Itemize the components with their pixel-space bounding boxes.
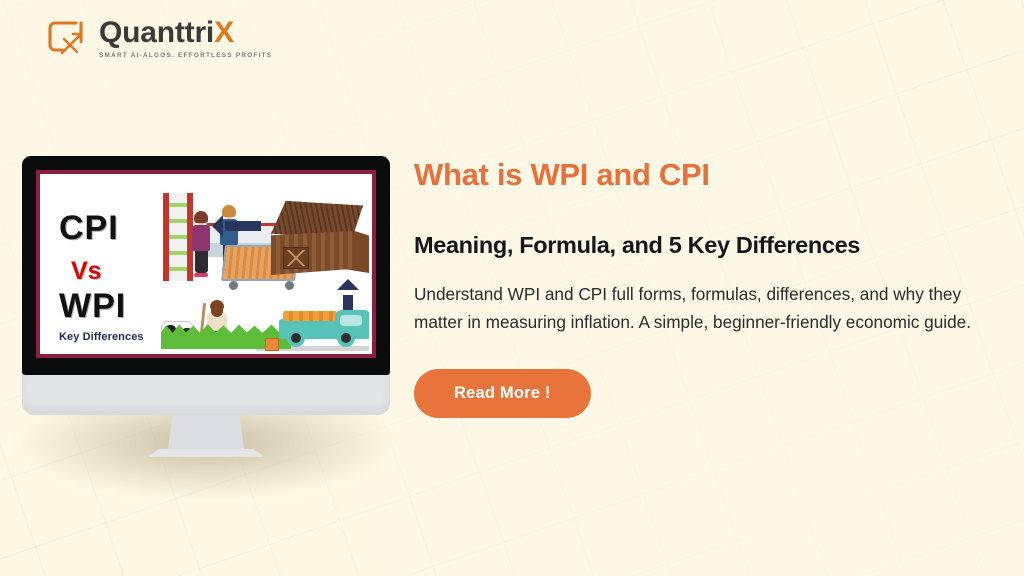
- thumbnail-frame: CPI Vs WPI Key Differences: [36, 170, 376, 358]
- arrow-left-icon: [225, 221, 261, 231]
- thumbnail-caption: Key Differences: [59, 331, 144, 343]
- thumbnail-label-cpi: CPI: [59, 209, 119, 248]
- brand-tagline: SMART AI-ALGOS. EFFORTLESS PROFITS: [99, 53, 272, 59]
- monitor-chin: [22, 375, 390, 415]
- read-more-button[interactable]: Read More !: [414, 369, 591, 418]
- brand-name-dark: Quanttri: [99, 16, 214, 49]
- monitor-bezel: CPI Vs WPI Key Differences: [22, 156, 390, 375]
- monitor-mockup: CPI Vs WPI Key Differences: [22, 156, 390, 457]
- page-stage: QuanttriX SMART AI-ALGOS. EFFORTLESS PRO…: [0, 0, 1024, 576]
- brand-wordmark: QuanttriX: [99, 18, 272, 48]
- barn-door: [283, 247, 309, 269]
- store-shelf: [163, 193, 193, 281]
- page-title: What is WPI and CPI: [414, 158, 989, 192]
- warehouse-barn-illustration: [265, 195, 369, 281]
- farm-illustration: [161, 281, 369, 351]
- article-content: What is WPI and CPI Meaning, Formula, an…: [414, 158, 989, 418]
- article-description: Understand WPI and CPI full forms, formu…: [414, 281, 986, 337]
- monitor-stand-foot: [147, 449, 265, 457]
- thumbnail-label-vs: Vs: [71, 257, 102, 286]
- brand-wordmark-wrap: QuanttriX SMART AI-ALGOS. EFFORTLESS PRO…: [99, 16, 272, 59]
- pickup-truck: [279, 307, 369, 347]
- thumbnail-label-wpi: WPI: [59, 287, 126, 326]
- brand-logo[interactable]: QuanttriX SMART AI-ALGOS. EFFORTLESS PRO…: [42, 14, 272, 62]
- quanttrix-arrow-square-icon: [42, 14, 90, 62]
- brand-name-accent: X: [214, 16, 234, 49]
- page-subtitle: Meaning, Formula, and 5 Key Differences: [414, 232, 989, 259]
- thumbnail-image[interactable]: CPI Vs WPI Key Differences: [43, 177, 369, 351]
- monitor-stand-neck: [168, 415, 244, 449]
- produce-crate: [265, 338, 279, 351]
- shopper-figure-1: [191, 213, 211, 277]
